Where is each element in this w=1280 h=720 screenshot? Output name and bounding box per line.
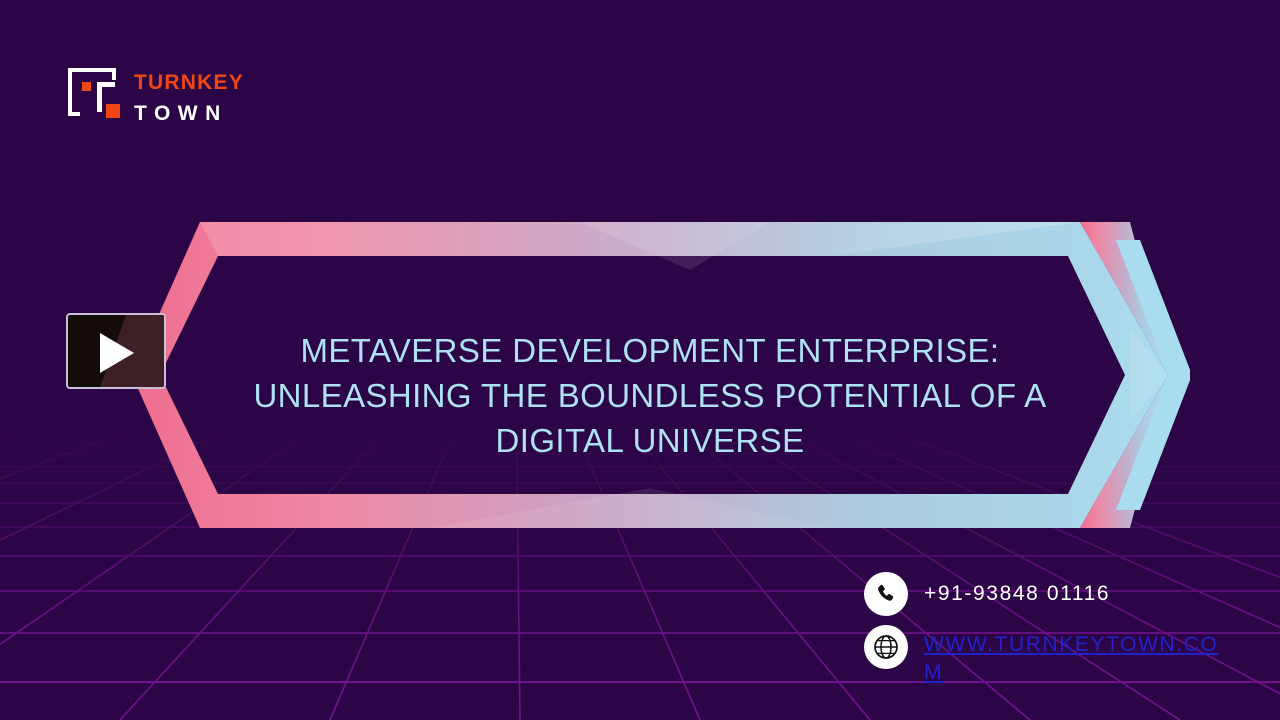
play-icon[interactable] (100, 333, 134, 373)
page-title: METAVERSE DEVELOPMENT ENTERPRISE: UNLEAS… (210, 328, 1090, 463)
logo-line-town: TOWN (134, 102, 254, 126)
website-link[interactable]: WWW.TURNKEYTOWN.COM (924, 631, 1224, 687)
video-placeholder[interactable] (66, 313, 166, 389)
contact-row-phone: +91-93848 01116 (864, 572, 1264, 616)
logo-line-turnkey: TURNKEY (134, 72, 254, 94)
logo-wordmark: TURNKEY TOWN (134, 72, 254, 126)
brand-logo[interactable]: TURNKEY TOWN (68, 68, 258, 140)
turnkey-square-mark-icon (68, 68, 130, 130)
phone-number: +91-93848 01116 (924, 572, 1110, 616)
slide-canvas: TURNKEY TOWN (0, 0, 1280, 720)
phone-icon (864, 572, 908, 616)
globe-icon (864, 625, 908, 669)
contact-block: +91-93848 01116 WWW.TURNKEYTOWN.COM (864, 572, 1264, 696)
contact-row-website: WWW.TURNKEYTOWN.COM (864, 625, 1264, 687)
